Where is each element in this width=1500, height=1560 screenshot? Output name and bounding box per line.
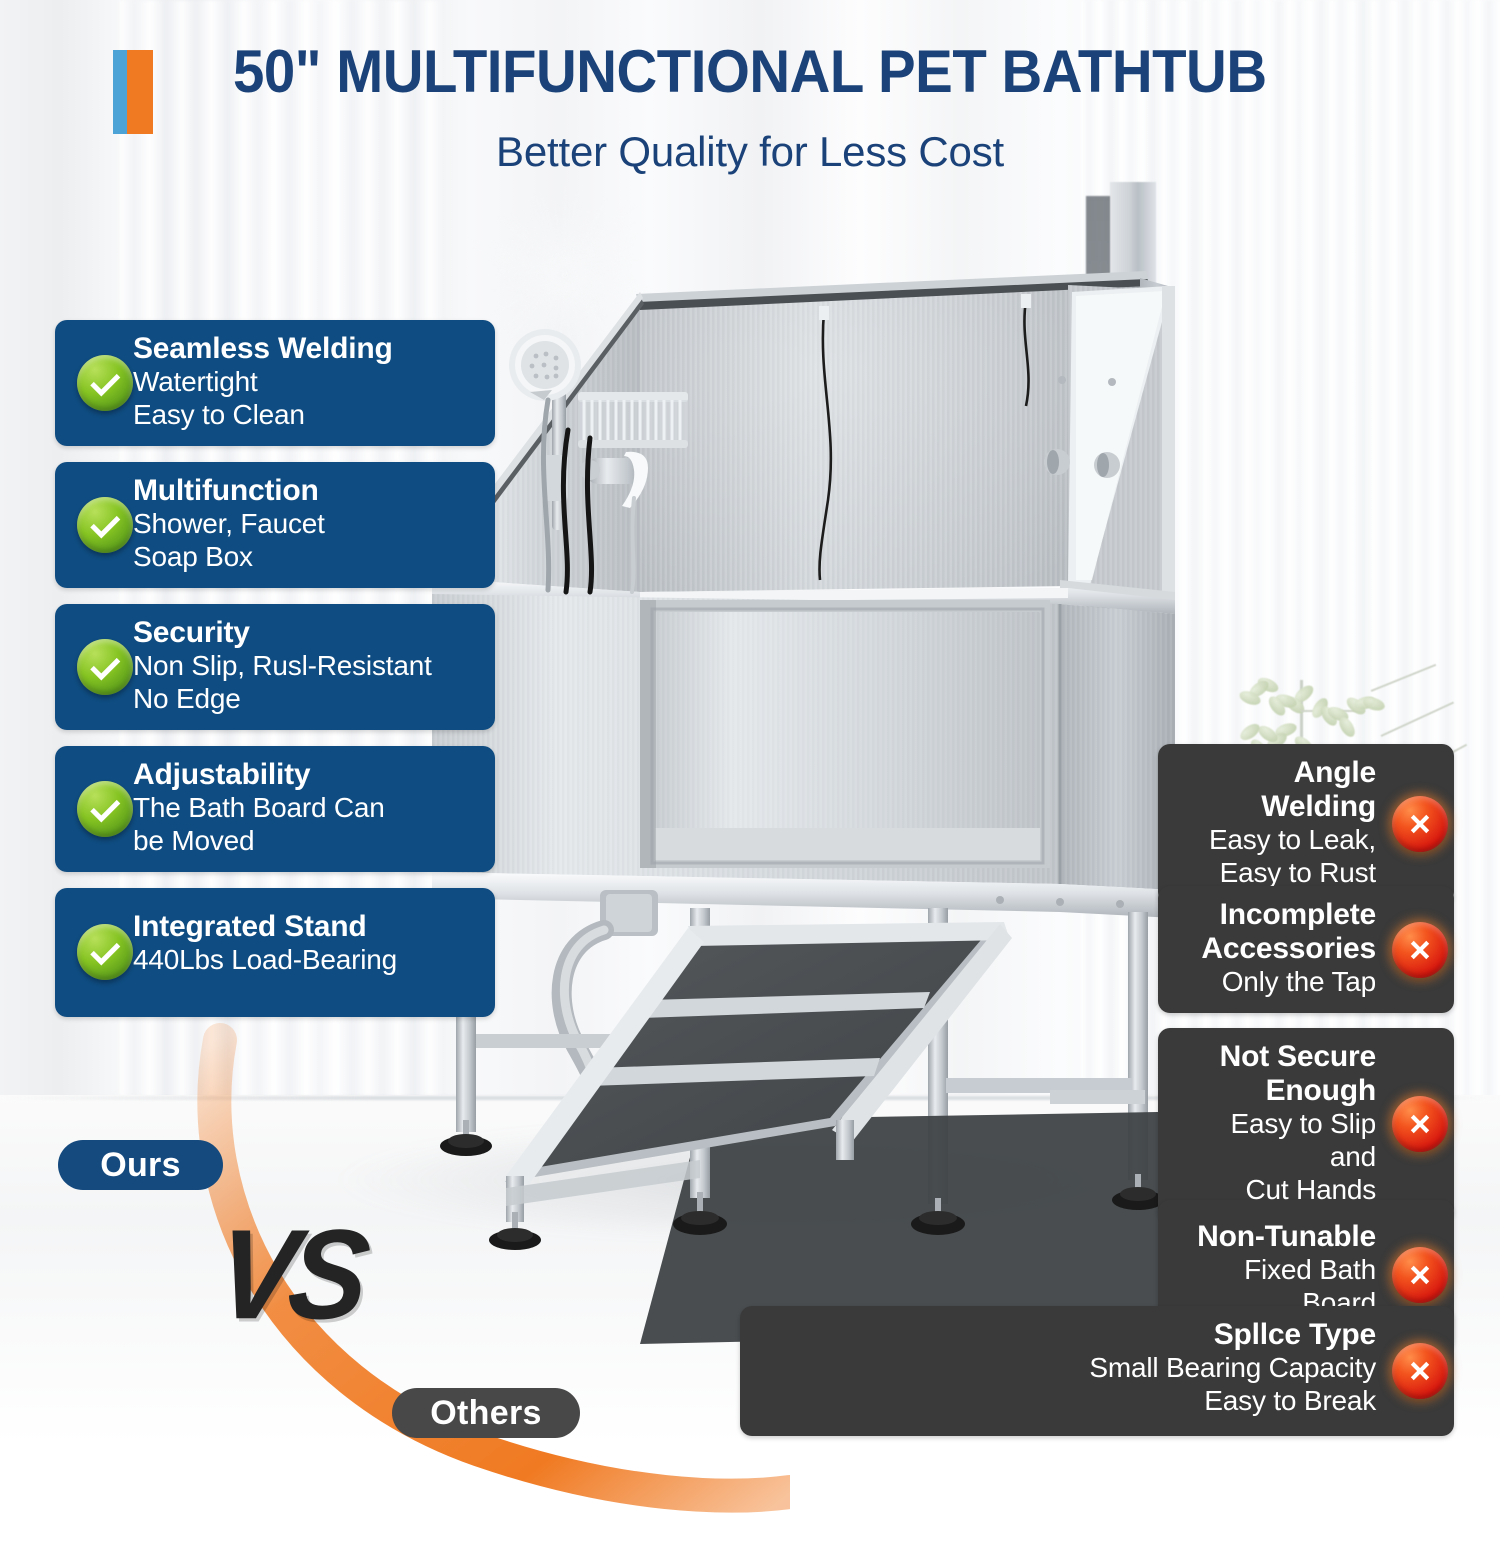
pro-line: The Bath Board Can: [133, 792, 473, 825]
con-line: Easy to Break: [762, 1385, 1376, 1418]
pro-line: Non Slip, Rusl-Resistant: [133, 650, 473, 683]
con-item-0[interactable]: Angle Welding Easy to Leak, Easy to Rust: [1158, 744, 1454, 904]
check-icon: [77, 355, 133, 411]
con-item-2[interactable]: Not Secure Enough Easy to Slip and Cut H…: [1158, 1028, 1454, 1221]
check-icon: [77, 639, 133, 695]
con-item-4[interactable]: Spllce Type Small Bearing Capacity Easy …: [740, 1306, 1454, 1436]
check-icon: [77, 497, 133, 553]
pro-item-1[interactable]: Multifunction Shower, Faucet Soap Box: [55, 462, 495, 588]
title-accent-bars: [113, 50, 155, 134]
cross-icon: [1392, 796, 1448, 852]
pro-item-4[interactable]: Integrated Stand 440Lbs Load-Bearing: [55, 888, 495, 1017]
check-icon: [77, 781, 133, 837]
page-title: 50" MULTIFUNCTIONAL PET BATHTUB: [233, 42, 1267, 102]
pro-line: 440Lbs Load-Bearing: [133, 944, 473, 977]
con-title: Non-Tunable: [1180, 1220, 1376, 1254]
pro-title: Multifunction: [133, 474, 473, 508]
con-title: Not Secure: [1180, 1040, 1376, 1074]
con-title: Accessories: [1180, 932, 1376, 966]
cross-icon: [1392, 1343, 1448, 1399]
pro-line: Watertight: [133, 366, 473, 399]
con-line: Only the Tap: [1180, 966, 1376, 999]
others-badge: Others: [392, 1388, 580, 1438]
cable-clip: [1021, 294, 1031, 308]
pro-line: be Moved: [133, 825, 473, 858]
cross-icon: [1392, 922, 1448, 978]
pro-item-2[interactable]: Security Non Slip, Rusl-Resistant No Edg…: [55, 604, 495, 730]
pro-line: No Edge: [133, 683, 473, 716]
con-item-1[interactable]: Incomplete Accessories Only the Tap: [1158, 886, 1454, 1013]
pro-title: Integrated Stand: [133, 910, 473, 944]
con-title: Angle Welding: [1180, 756, 1376, 824]
page-subtitle: Better Quality for Less Cost: [0, 128, 1500, 176]
con-line: Easy to Rust: [1180, 857, 1376, 890]
pro-item-0[interactable]: Seamless Welding Watertight Easy to Clea…: [55, 320, 495, 446]
con-title: Incomplete: [1180, 898, 1376, 932]
con-title: Enough: [1180, 1074, 1376, 1108]
shower-head: [509, 329, 581, 401]
con-title: Spllce Type: [762, 1318, 1376, 1352]
pro-line: Easy to Clean: [133, 399, 473, 432]
con-line: Small Bearing Capacity: [762, 1352, 1376, 1385]
check-icon: [77, 924, 133, 980]
con-line: Easy to Slip and: [1180, 1108, 1376, 1174]
cross-icon: [1392, 1096, 1448, 1152]
pro-item-3[interactable]: Adjustability The Bath Board Can be Move…: [55, 746, 495, 872]
con-line: Easy to Leak,: [1180, 824, 1376, 857]
soap-basket: [578, 392, 688, 448]
bath-board: [640, 600, 1050, 868]
pro-title: Security: [133, 616, 473, 650]
pro-line: Soap Box: [133, 541, 473, 574]
header: 50" MULTIFUNCTIONAL PET BATHTUB: [0, 42, 1500, 102]
cross-icon: [1392, 1247, 1448, 1303]
pro-title: Seamless Welding: [133, 332, 473, 366]
cable-clip: [819, 306, 829, 320]
ours-badge: Ours: [58, 1140, 223, 1190]
pro-title: Adjustability: [133, 758, 473, 792]
vs-label: VS: [210, 1202, 369, 1349]
pro-line: Shower, Faucet: [133, 508, 473, 541]
